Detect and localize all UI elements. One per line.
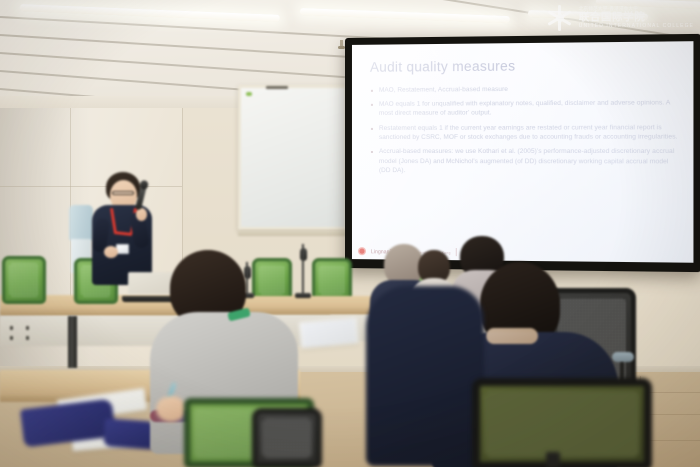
projection-screen: Audit quality measures MAO, Restatement,… [345, 34, 700, 272]
document-lines [301, 320, 357, 347]
presentation-slide: Audit quality measures MAO, Restatement,… [352, 41, 693, 263]
whiteboard [238, 85, 348, 230]
chair-mesh [262, 418, 312, 458]
audience-neck [486, 328, 538, 344]
chair-mesh [485, 391, 639, 457]
glasses [112, 191, 134, 195]
seminar-room-photo: Audit quality measures MAO, Restatement,… [0, 0, 700, 467]
chair-black-foreground-right [472, 378, 652, 467]
audience-hand [156, 396, 186, 422]
chair-back [252, 408, 322, 467]
lingnan-crest-icon [358, 247, 366, 255]
watermark-cn-big: 联合国际学院 [579, 12, 694, 23]
sprinkler-head [338, 40, 345, 50]
desk-leg [68, 316, 77, 368]
slide-bullet: MAO equals 1 for unqualified with explan… [370, 98, 679, 118]
slide-bullet: Restatement equals 1 if the current year… [370, 123, 679, 143]
slide-bullet: Accrual-based measures: we use Kothari e… [370, 147, 679, 176]
snowflake-icon [547, 5, 573, 31]
panel-grommet [26, 336, 29, 340]
panel-grommet [26, 326, 29, 330]
screen-surface: Audit quality measures MAO, Restatement,… [352, 41, 693, 263]
audience-torso [366, 286, 484, 466]
watermark-en: UNITED INTERNATIONAL COLLEGE [579, 24, 694, 29]
whiteboard-clip [266, 86, 288, 89]
slide-title: Audit quality measures [370, 58, 679, 76]
watermark: 北京师范大学-香港浸会大学 联合国际学院 UNITED INTERNATIONA… [547, 5, 694, 31]
watermark-text: 北京师范大学-香港浸会大学 联合国际学院 UNITED INTERNATIONA… [579, 7, 694, 29]
presenter-left-hand [104, 246, 118, 258]
chair-mesh [319, 265, 345, 295]
chair-post [546, 452, 560, 467]
audience-member-dark-suit-left [366, 286, 486, 467]
whiteboard-magnet [246, 92, 252, 96]
document-sheet [299, 318, 359, 349]
folded-cloth [103, 418, 157, 450]
chair-green [2, 256, 46, 304]
panel-grommet [10, 336, 13, 340]
presenter-right-hand [136, 208, 147, 221]
whiteboard-tray [238, 230, 350, 236]
chair-back [2, 256, 46, 304]
slide-bullet: MAO, Restatement, Accrual-based measure [370, 84, 679, 95]
chair-black-foreground [252, 408, 322, 467]
chair-mesh [9, 263, 39, 297]
mic-gooseneck [302, 244, 304, 294]
chair-back [472, 378, 652, 467]
slide-bullet-list: MAO, Restatement, Accrual-based measure … [370, 84, 679, 176]
panel-grommet [10, 326, 13, 330]
